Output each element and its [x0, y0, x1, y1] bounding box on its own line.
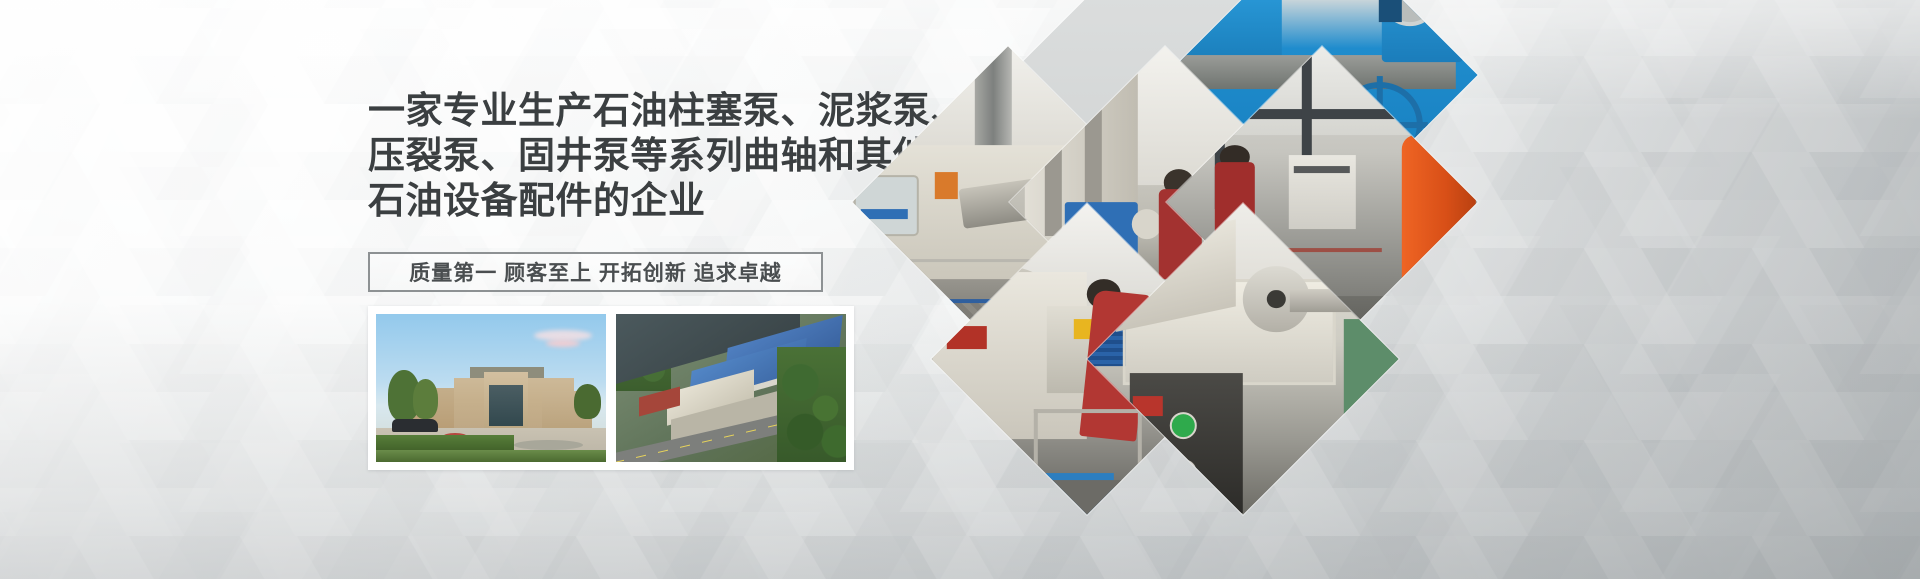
slogan-text: 质量第一 顾客至上 开拓创新 追求卓越 — [409, 257, 782, 287]
green-indicator-lamp — [1169, 412, 1196, 439]
building-glass-facade — [489, 385, 524, 426]
page-title: 一家专业生产石油柱塞泵、泥浆泵、 压裂泵、固井泵等系列曲轴和其他 石油设备配件的… — [368, 88, 888, 223]
cloud-shape — [546, 340, 580, 347]
red-label — [947, 326, 987, 349]
parked-car — [392, 419, 438, 432]
diamond-photo-collage — [860, 30, 1580, 510]
office-building-photo — [376, 314, 606, 462]
factory-aerial-photo — [616, 314, 846, 462]
blue-label-strip — [861, 209, 908, 219]
control-cabinet — [1289, 155, 1356, 229]
red-indicator-lamp — [1169, 459, 1196, 486]
workpiece — [1132, 209, 1162, 239]
tree-belt — [777, 347, 846, 462]
tree-shape — [574, 384, 602, 420]
slogan-box: 质量第一 顾客至上 开拓创新 追求卓越 — [368, 252, 823, 292]
fountain-pond — [514, 440, 583, 450]
headline-line-3: 石油设备配件的企业 — [368, 178, 888, 223]
hedge-row — [376, 450, 606, 462]
tree-shape — [413, 379, 438, 419]
hero-banner: 一家专业生产石油柱塞泵、泥浆泵、 压裂泵、固井泵等系列曲轴和其他 石油设备配件的… — [0, 0, 1920, 579]
exhaust-duct — [975, 46, 1012, 155]
lathe-control-box — [1379, 0, 1402, 22]
headline-line-2: 压裂泵、固井泵等系列曲轴和其他 — [368, 133, 888, 178]
orange-fixture — [934, 172, 957, 199]
orange-pressure-tank — [1402, 135, 1476, 316]
machine-door — [854, 175, 918, 236]
workshop-floor — [931, 479, 1242, 514]
headline-line-1: 一家专业生产石油柱塞泵、泥浆泵、 — [368, 88, 888, 133]
green-pipe-stack — [1343, 319, 1398, 419]
photo-strip — [368, 306, 854, 470]
headline-block: 一家专业生产石油柱塞泵、泥浆泵、 压裂泵、固井泵等系列曲轴和其他 石油设备配件的… — [368, 88, 888, 223]
